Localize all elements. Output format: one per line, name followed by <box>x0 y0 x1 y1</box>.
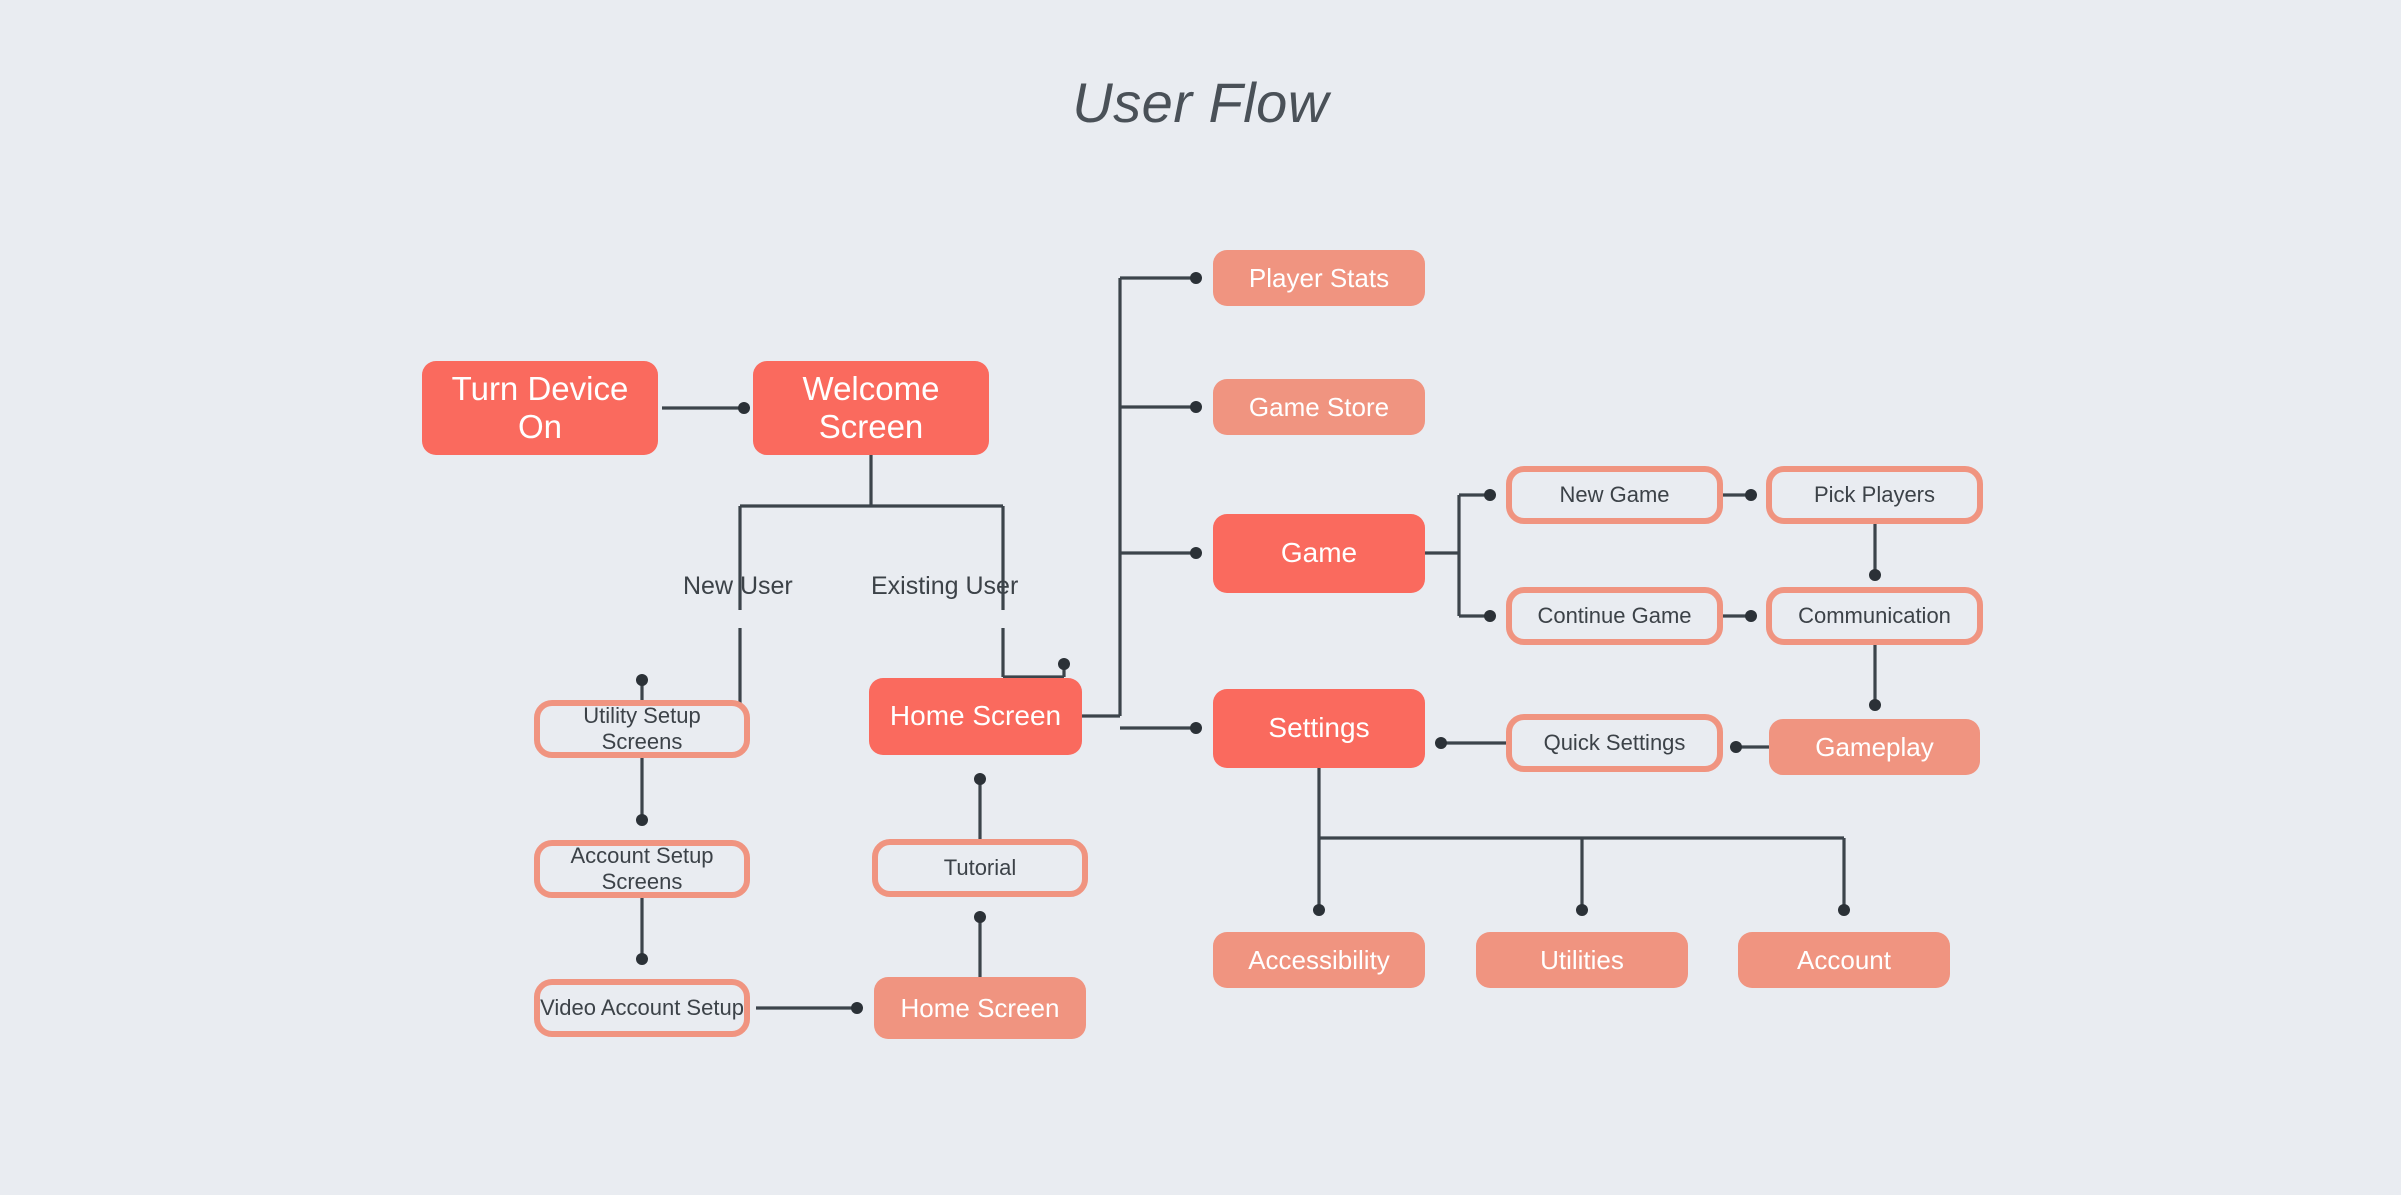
node-welcome-screen[interactable]: Welcome Screen <box>753 361 989 455</box>
node-accessibility[interactable]: Accessibility <box>1213 932 1425 988</box>
node-gameplay[interactable]: Gameplay <box>1769 719 1980 775</box>
node-video-account-setup[interactable]: Video Account Setup <box>534 979 750 1037</box>
node-account[interactable]: Account <box>1738 932 1950 988</box>
user-flow-canvas: User Flow <box>0 0 2401 1195</box>
node-utility-setup-screens[interactable]: Utility Setup Screens <box>534 700 750 758</box>
page-title: User Flow <box>0 70 2401 135</box>
node-utilities[interactable]: Utilities <box>1476 932 1688 988</box>
node-game-store[interactable]: Game Store <box>1213 379 1425 435</box>
node-game[interactable]: Game <box>1213 514 1425 593</box>
node-home-screen-main[interactable]: Home Screen <box>869 678 1082 755</box>
connector-layer <box>0 0 2401 1195</box>
node-continue-game[interactable]: Continue Game <box>1506 587 1723 645</box>
node-quick-settings[interactable]: Quick Settings <box>1506 714 1723 772</box>
node-tutorial[interactable]: Tutorial <box>872 839 1088 897</box>
edge-label-new-user: New User <box>683 572 793 601</box>
node-account-setup-screens[interactable]: Account Setup Screens <box>534 840 750 898</box>
node-turn-device-on[interactable]: Turn Device On <box>422 361 658 455</box>
edge-label-existing-user: Existing User <box>871 572 1018 601</box>
node-new-game[interactable]: New Game <box>1506 466 1723 524</box>
node-pick-players[interactable]: Pick Players <box>1766 466 1983 524</box>
node-home-screen-new[interactable]: Home Screen <box>874 977 1086 1039</box>
node-settings[interactable]: Settings <box>1213 689 1425 768</box>
node-communication[interactable]: Communication <box>1766 587 1983 645</box>
node-player-stats[interactable]: Player Stats <box>1213 250 1425 306</box>
